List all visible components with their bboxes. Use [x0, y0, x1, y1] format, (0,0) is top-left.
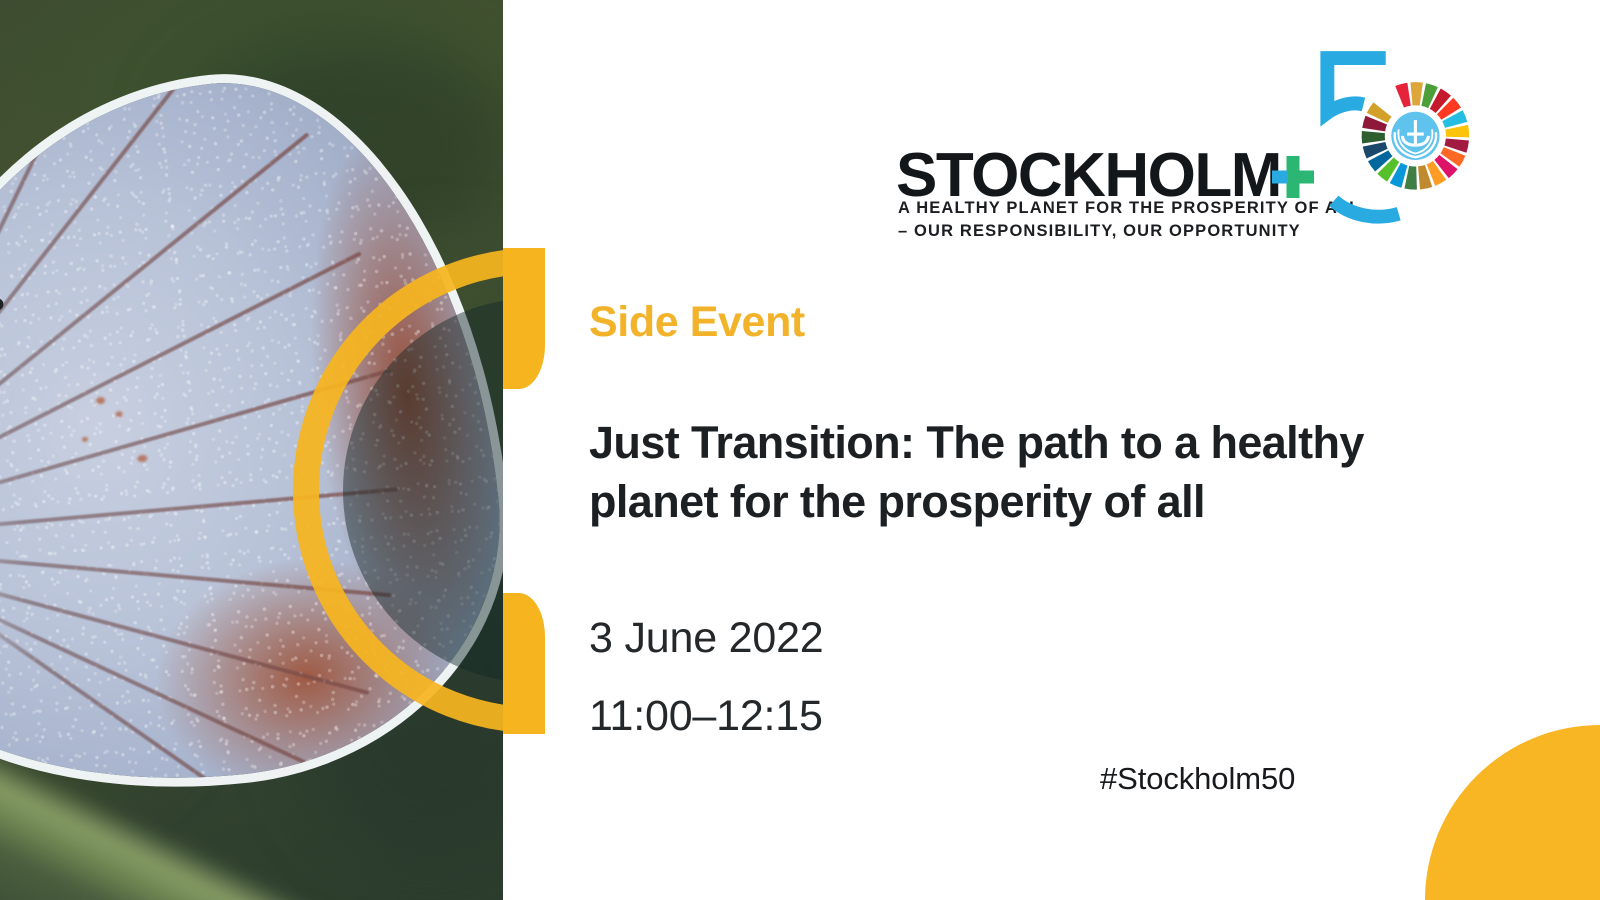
event-poster: STOCKHOLM A HEALTHY PLANET FOR THE PROSP… — [0, 0, 1600, 900]
event-hashtag: #Stockholm50 — [1100, 761, 1295, 797]
yellow-ring-spill-bottom — [503, 593, 545, 734]
yellow-ring-spill-top — [503, 248, 545, 389]
un-environment-emblem — [1388, 108, 1444, 164]
logo-tagline-line1: A HEALTHY PLANET FOR THE PROSPERITY OF A… — [898, 199, 1360, 218]
logo-tagline-line2: – OUR RESPONSIBILITY, OUR OPPORTUNITY — [898, 222, 1301, 241]
yellow-quarter-circle — [1425, 725, 1600, 900]
eyebrow-label: Side Event — [589, 298, 805, 347]
butterfly-wing-photo — [0, 0, 503, 900]
stockholm50-logo: STOCKHOLM A HEALTHY PLANET FOR THE PROSP… — [896, 52, 1486, 252]
event-time: 11:00–12:15 — [589, 692, 823, 741]
event-date: 3 June 2022 — [589, 614, 824, 663]
sdg-wheel-segment — [1362, 131, 1385, 144]
page-title: Just Transition: The path to a healthy p… — [589, 413, 1389, 532]
sdg-wheel-segment — [1395, 83, 1411, 108]
sdg-wheel-segment — [1410, 82, 1423, 105]
anniversary-50-mark — [1302, 46, 1488, 236]
